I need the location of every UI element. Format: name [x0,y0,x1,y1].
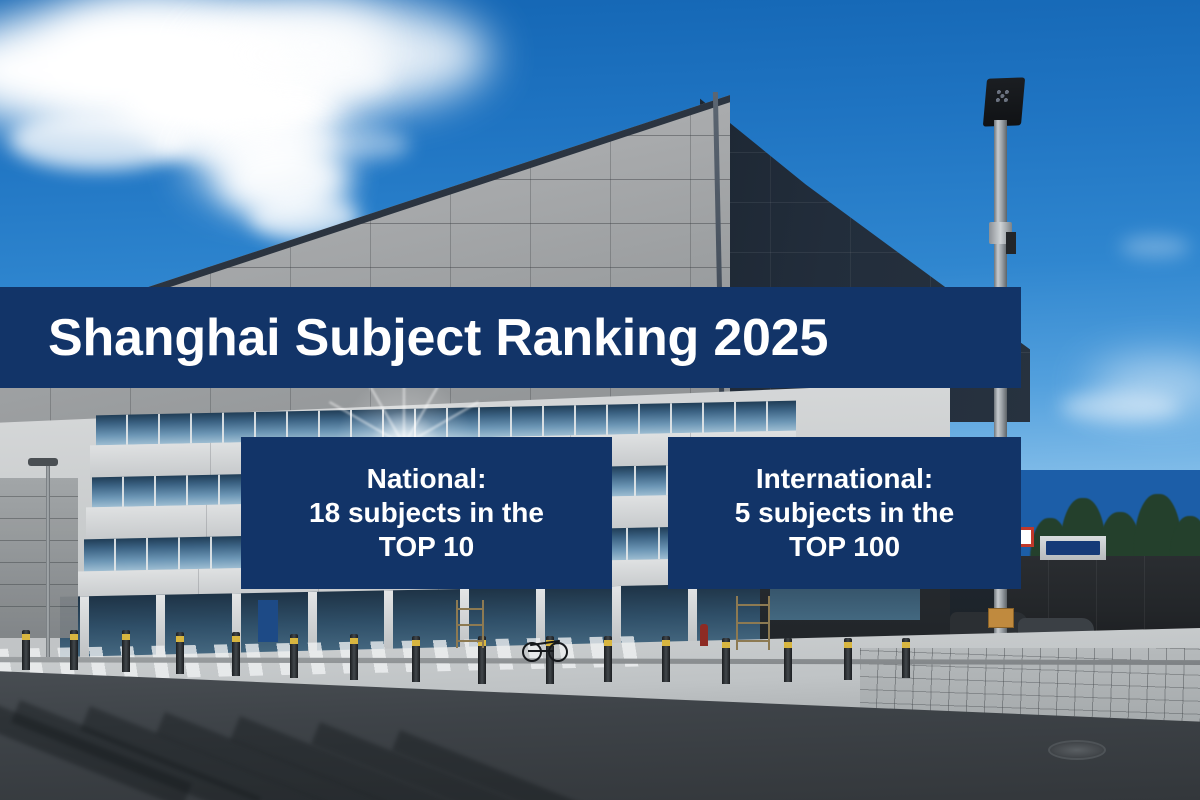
bollard [232,632,240,676]
info-box-national-line3: TOP 10 [379,530,474,564]
info-box-international-line3: TOP 100 [789,530,900,564]
page-title: Shanghai Subject Ranking 2025 [0,312,828,364]
tree-support-frame [736,596,770,650]
info-box-national-line2: 18 subjects in the [309,496,544,530]
info-box-national: National: 18 subjects in the TOP 10 [241,437,612,589]
cloud-shape [300,60,390,95]
cloud-shape [1060,392,1180,422]
background-building-left [0,478,78,638]
bollard [604,636,612,682]
bollard [176,632,184,674]
cloud-shape [1120,236,1190,258]
parked-bicycle [522,636,570,662]
red-hydrant [700,624,708,646]
street-lamp-secondary-head [28,458,58,466]
info-box-international: International: 5 subjects in the TOP 100 [668,437,1021,589]
bollard [412,636,420,682]
info-box-international-heading: International: [756,462,933,496]
bollard [844,638,852,680]
street-lamp-secondary [46,462,50,662]
info-box-national-heading: National: [367,462,487,496]
equipment-brand-plate [1046,541,1100,555]
bollard [350,634,358,680]
title-banner: Shanghai Subject Ranking 2025 [0,287,1021,388]
bollard [662,636,670,682]
bollard [290,634,298,678]
tree-support-frame [456,600,484,648]
bollard [784,638,792,682]
info-box-international-line2: 5 subjects in the [735,496,954,530]
bollard [122,630,130,672]
street-lamp-led-array [993,88,1018,110]
entrance-banner [258,600,278,642]
street-lamp-sign-tag [988,608,1014,628]
street-lamp-junction-box [1006,232,1016,254]
cloud-shape [330,130,410,160]
bollard [722,638,730,684]
manhole-cover [1048,740,1106,760]
bollard [22,630,30,670]
bollard [70,630,78,670]
promo-banner-image: Shanghai Subject Ranking 2025 National: … [0,0,1200,800]
bollard [902,638,910,678]
